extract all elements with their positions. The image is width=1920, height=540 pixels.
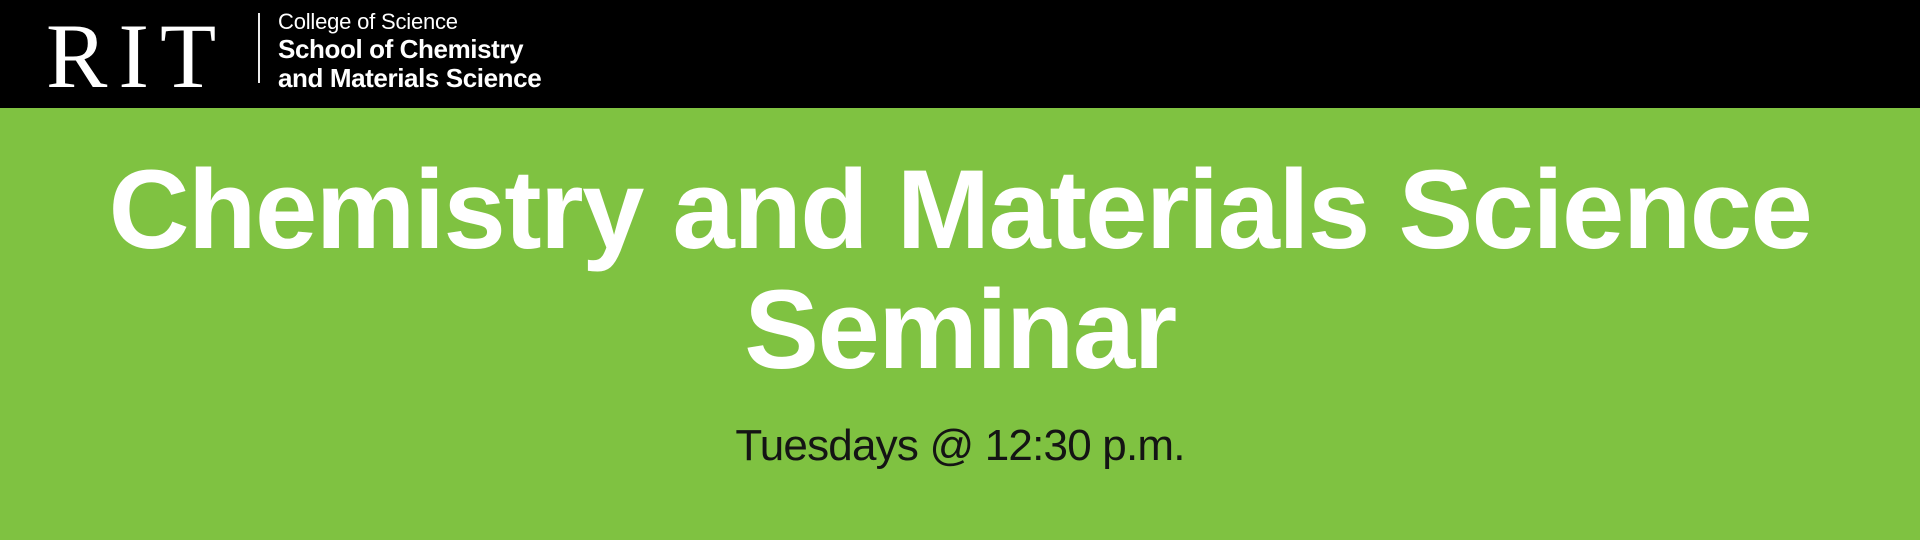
seminar-title-line-2: Seminar: [0, 270, 1920, 390]
seminar-title-line-1: Chemistry and Materials Science: [0, 150, 1920, 270]
rit-logo-wordmark: RIT: [46, 0, 227, 110]
seminar-title: Chemistry and Materials Science Seminar: [0, 150, 1920, 390]
seminar-banner: RIT College of Science School of Chemist…: [0, 0, 1920, 540]
brand-school-line-1: School of Chemistry: [278, 35, 541, 64]
vertical-divider-icon: [258, 13, 260, 83]
brand-lockup: College of Science School of Chemistry a…: [278, 9, 541, 93]
seminar-schedule-subtitle: Tuesdays @ 12:30 p.m.: [0, 420, 1920, 472]
brand-school-line-2: and Materials Science: [278, 64, 541, 93]
brand-college-label: College of Science: [278, 9, 541, 35]
brand-header-bar: RIT College of Science School of Chemist…: [0, 0, 1920, 108]
